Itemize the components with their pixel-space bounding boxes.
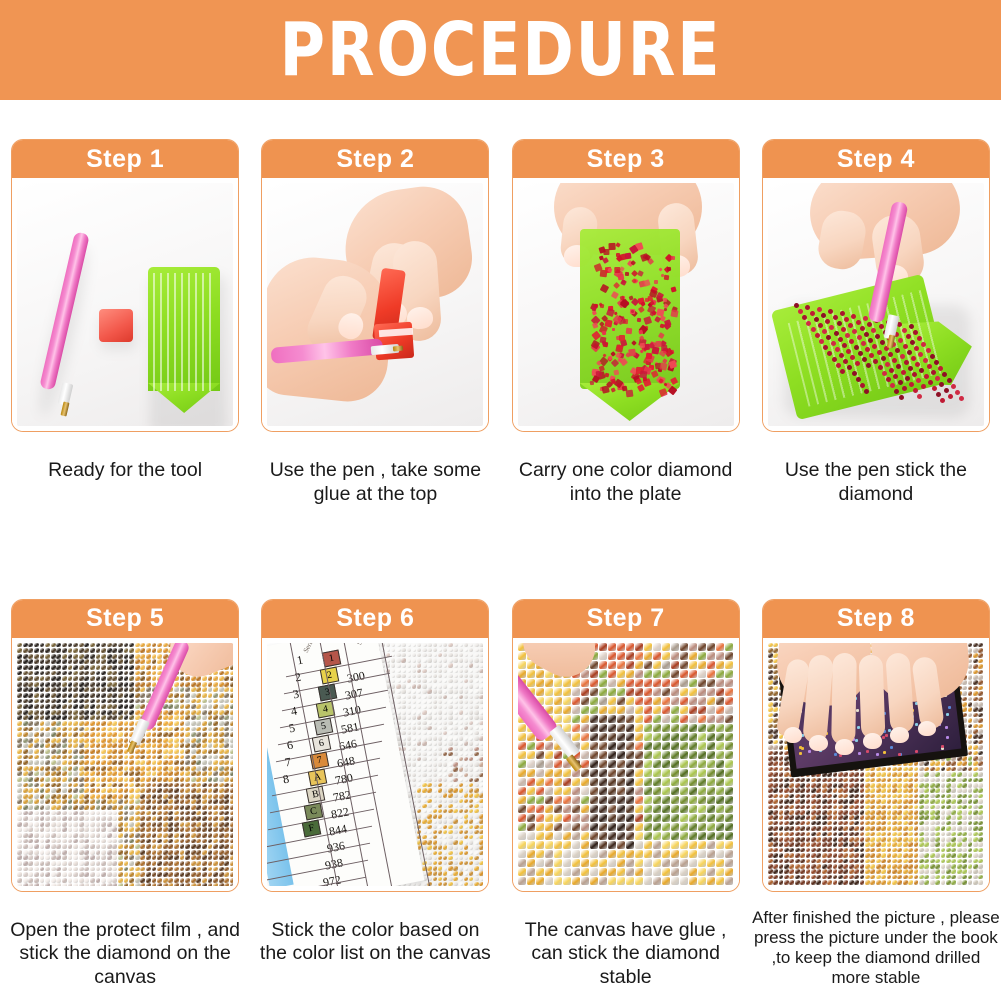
step-card-6[interactable]: Step 6 SerialSymbolDMC112230033307443105… xyxy=(261,599,489,892)
step-card-3[interactable]: Step 3 xyxy=(512,139,740,432)
step-image-1 xyxy=(12,178,238,431)
step-cell-5: Step 5 Open the protect film , and stick… xyxy=(0,599,250,990)
step-caption-7: The canvas have glue , can stick the dia… xyxy=(507,919,745,990)
step-card-7[interactable]: Step 7 xyxy=(512,599,740,892)
step-caption-8: After finished the picture , please pres… xyxy=(751,908,1001,988)
photo-tools-pen-glue-tray xyxy=(17,183,233,426)
step-badge-4: Step 4 xyxy=(763,140,989,178)
page-title: PROCEDURE xyxy=(280,13,722,87)
step-cell-3: Step 3 xyxy=(501,139,751,507)
photo-hand-holding-tray-red-diamonds xyxy=(518,183,734,426)
step-caption-1: Ready for the tool xyxy=(6,459,244,483)
step-caption-3: Carry one color diamond into the plate xyxy=(507,459,745,507)
steps-row-1: Step 1 xyxy=(0,139,1001,507)
step-badge-8: Step 8 xyxy=(763,600,989,638)
step-badge-2: Step 2 xyxy=(262,140,488,178)
chart-symbol-cell: F xyxy=(302,819,322,837)
step-card-4[interactable]: Step 4 xyxy=(762,139,990,432)
step-badge-5: Step 5 xyxy=(12,600,238,638)
step-image-8 xyxy=(763,638,989,891)
step-caption-6: Stick the color based on the color list … xyxy=(256,919,494,967)
step-cell-4: Step 4 xyxy=(751,139,1001,507)
photo-color-list-chart: SerialSymbolDMC1122300333074431055581666… xyxy=(267,643,483,886)
step-caption-4: Use the pen stick the diamond xyxy=(757,459,995,507)
photo-hands-pressing-book-on-canvas xyxy=(768,643,984,886)
photo-hands-pen-taking-glue xyxy=(267,183,483,426)
step-card-5[interactable]: Step 5 xyxy=(11,599,239,892)
step-image-5 xyxy=(12,638,238,891)
step-cell-7: Step 7 The canvas have glue , can stick … xyxy=(501,599,751,990)
step-card-8[interactable]: Step 8 xyxy=(762,599,990,892)
step-badge-7: Step 7 xyxy=(513,600,739,638)
step-card-2[interactable]: Step 2 xyxy=(261,139,489,432)
step-image-6: SerialSymbolDMC1122300333074431055581666… xyxy=(262,638,488,891)
chart-symbol-cell: 6 xyxy=(312,734,332,752)
step-caption-5: Open the protect film , and stick the di… xyxy=(6,919,244,990)
step-cell-6: Step 6 SerialSymbolDMC112230033307443105… xyxy=(250,599,500,990)
photo-closeup-colored-beads-pen xyxy=(518,643,734,886)
step-cell-1: Step 1 xyxy=(0,139,250,507)
step-image-3 xyxy=(513,178,739,431)
step-caption-2: Use the pen , take some glue at the top xyxy=(256,459,494,507)
step-image-2 xyxy=(262,178,488,431)
steps-row-2: Step 5 Open the protect film , and stick… xyxy=(0,599,1001,990)
photo-pen-on-sunflower-canvas xyxy=(17,643,233,886)
step-badge-1: Step 1 xyxy=(12,140,238,178)
page-header-banner: PROCEDURE xyxy=(0,0,1001,100)
step-card-1[interactable]: Step 1 xyxy=(11,139,239,432)
chart-symbol-cell: B xyxy=(306,785,326,803)
step-badge-6: Step 6 xyxy=(262,600,488,638)
step-badge-3: Step 3 xyxy=(513,140,739,178)
step-cell-8: Step 8 xyxy=(751,599,1001,990)
step-image-4 xyxy=(763,178,989,431)
chart-symbol-cell: 5 xyxy=(314,717,334,735)
photo-pen-picking-aligned-diamonds xyxy=(768,183,984,426)
step-image-7 xyxy=(513,638,739,891)
procedure-infographic: PROCEDURE Step 1 xyxy=(0,0,1001,1001)
step-cell-2: Step 2 xyxy=(250,139,500,507)
chart-symbol-cell: 2 xyxy=(320,666,340,684)
